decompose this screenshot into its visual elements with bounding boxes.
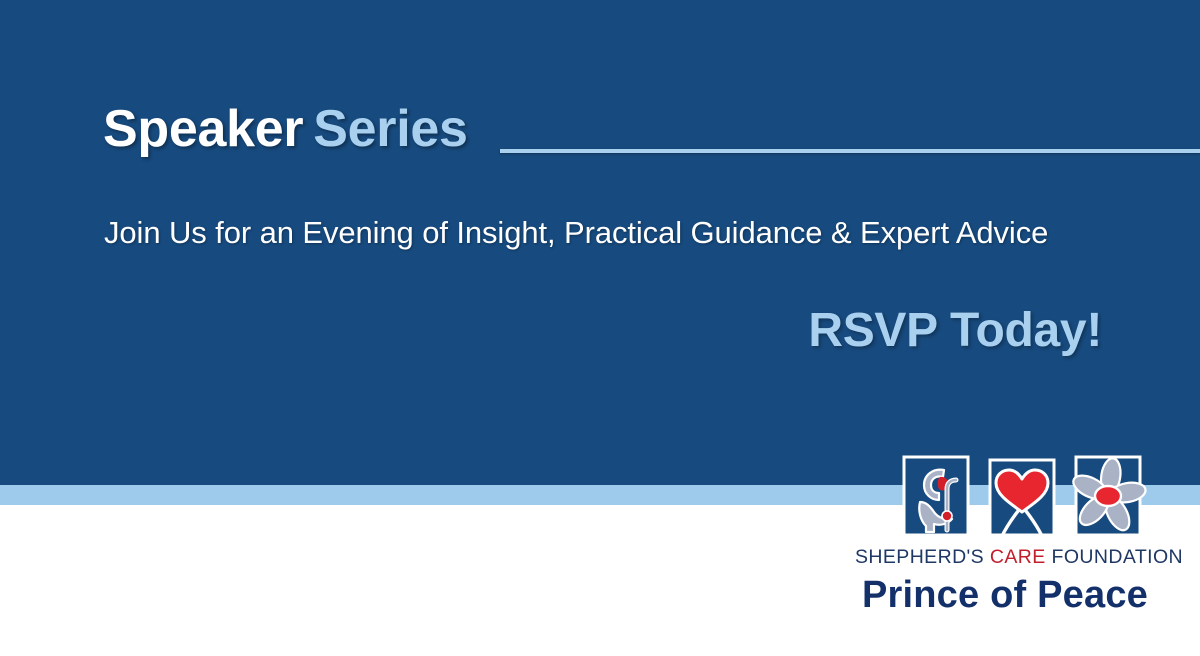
page-title: SpeakerSeries [103, 103, 468, 155]
title-divider-rule [500, 149, 1200, 153]
rsvp-call-to-action: RSVP Today! [808, 303, 1102, 358]
title-word-speaker: Speaker [103, 100, 303, 158]
flower-icon [1070, 457, 1147, 535]
wordmark-shepherds: SHEPHERD'S [855, 546, 984, 568]
wordmark-foundation: FOUNDATION [1052, 546, 1183, 568]
wordmark-care: CARE [990, 546, 1046, 568]
organization-logo: SHEPHERD'S CARE FOUNDATION Prince of Pea… [855, 450, 1155, 625]
logo-icon-group [900, 450, 1160, 542]
title-word-series: Series [313, 100, 467, 158]
heart-icon [990, 460, 1054, 536]
logo-community-name: Prince of Peace [855, 576, 1155, 614]
event-subtitle: Join Us for an Evening of Insight, Pract… [104, 215, 1048, 251]
shepherd-icon [904, 457, 968, 535]
event-banner: SpeakerSeries Join Us for an Evening of … [0, 0, 1200, 656]
logo-wordmark: SHEPHERD'S CARE FOUNDATION [855, 548, 1155, 568]
